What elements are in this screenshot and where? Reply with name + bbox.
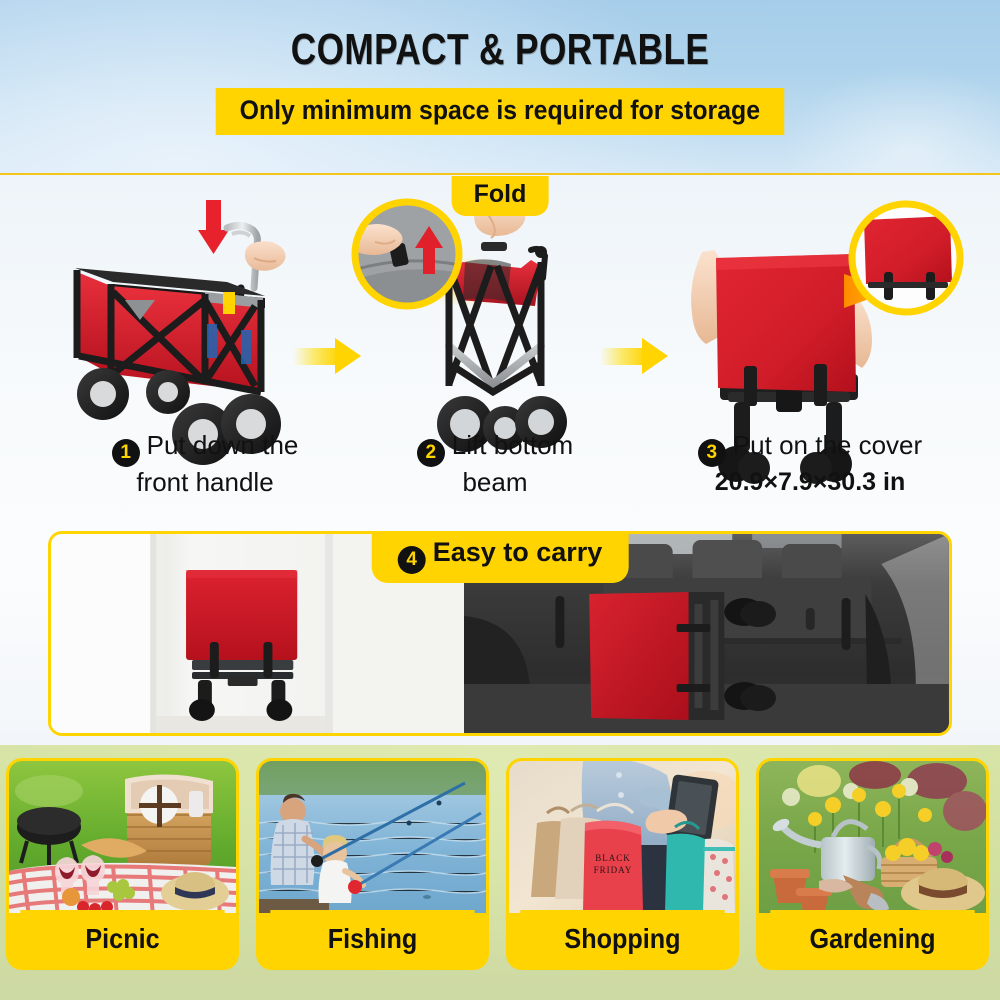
arrow-shaft	[600, 348, 646, 365]
header-banner: COMPACT & PORTABLE Only minimum space is…	[0, 0, 1000, 175]
use-case-card-gardening[interactable]: Gardening	[756, 758, 989, 970]
fold-badge: Fold	[452, 176, 549, 216]
step-3-caption: 3Put on the cover 20.9×7.9×30.3 in	[645, 430, 975, 498]
page-title: COMPACT & PORTABLE	[100, 25, 900, 75]
product-infographic: COMPACT & PORTABLE Only minimum space is…	[0, 0, 1000, 1000]
use-case-label-fishing: Fishing	[270, 910, 474, 967]
use-case-label-picnic: Picnic	[20, 910, 224, 967]
use-case-label-gardening: Gardening	[770, 910, 974, 967]
step-arrow-2-to-3	[600, 338, 668, 374]
gardening-scene	[759, 761, 986, 913]
easy-to-carry-label: Easy to carry	[433, 537, 603, 567]
svg-text:FRIDAY: FRIDAY	[594, 865, 633, 875]
step-2-line1: Lift bottom	[452, 430, 573, 460]
picnic-scene	[9, 761, 236, 913]
step-number-badge: 4	[398, 546, 426, 574]
product-dimensions: 20.9×7.9×30.3 in	[645, 467, 975, 498]
svg-text:BLACK: BLACK	[595, 853, 631, 863]
use-case-card-picnic[interactable]: Picnic	[6, 758, 239, 970]
subtitle-wrap: Only minimum space is required for stora…	[0, 88, 1000, 135]
use-case-card-shopping[interactable]: BLACK FRIDAY Shopping	[506, 758, 739, 970]
use-case-card-fishing[interactable]: Fishing	[256, 758, 489, 970]
shopping-bags-black-friday-photo: BLACK FRIDAY	[509, 761, 736, 913]
step-1-line1: Put down the	[147, 430, 299, 460]
step-1-line2: front handle	[70, 467, 340, 498]
use-case-cards: Picnic	[0, 758, 1000, 986]
step-arrow-1-to-2	[293, 338, 361, 374]
arrow-shaft	[293, 348, 339, 365]
hand-icon	[245, 241, 286, 271]
watering-can-flowers-garden-photo	[759, 761, 986, 913]
use-case-label-shopping: Shopping	[520, 910, 724, 967]
fishing-scene	[259, 761, 486, 913]
step-2-caption: 2Lift bottom beam	[355, 430, 635, 498]
arrow-head-icon	[335, 338, 361, 374]
step-captions: 1Put down the front handle 2Lift bottom …	[0, 430, 1000, 510]
step-number-badge: 1	[112, 439, 140, 467]
step-2-line2: beam	[355, 467, 635, 498]
arrow-head-icon	[642, 338, 668, 374]
shopping-scene: BLACK FRIDAY	[509, 761, 736, 913]
step-number-badge: 2	[417, 439, 445, 467]
easy-to-carry-badge: 4Easy to carry	[372, 531, 629, 583]
step-3-line1: Put on the cover	[733, 430, 922, 460]
picnic-basket-grass-photo	[9, 761, 236, 913]
red-cover	[716, 254, 856, 406]
step-1-caption: 1Put down the front handle	[70, 430, 340, 498]
header-subtitle: Only minimum space is required for stora…	[216, 88, 784, 135]
wagon-folded-frame	[449, 242, 547, 392]
father-child-fishing-lake-photo	[259, 761, 486, 913]
step-number-badge: 3	[698, 439, 726, 467]
cover-detail-inset	[852, 204, 964, 316]
